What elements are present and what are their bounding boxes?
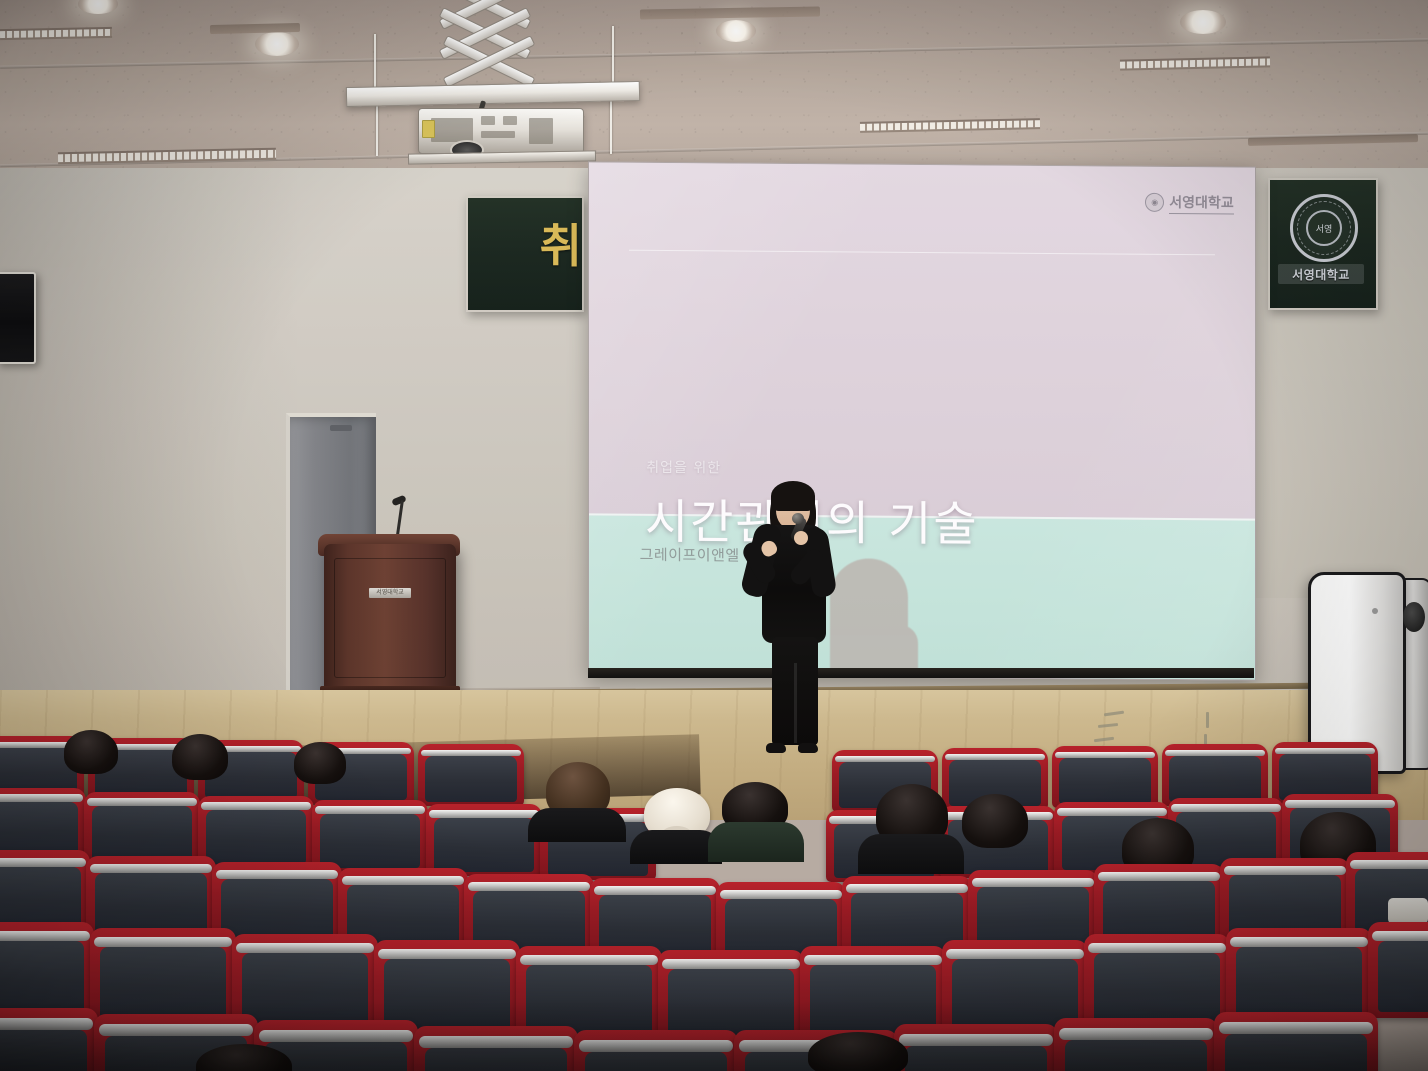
air-purifier-intake-icon (1403, 602, 1425, 632)
projector-label (422, 120, 435, 138)
audience-shoulders (708, 822, 804, 862)
podium: 서영대학교 (324, 544, 456, 694)
slide-footer-text: 그레이프이앤엘 이 (640, 544, 760, 566)
hanger-wire (376, 100, 378, 156)
door-closer-icon (330, 425, 352, 431)
projector-mount-plate (346, 81, 640, 107)
seat[interactable] (84, 792, 200, 864)
slide-logo-text: 서영대학교 (1169, 192, 1233, 215)
audience-head (962, 794, 1028, 848)
seat[interactable] (1214, 1012, 1378, 1071)
podium-nameplate: 서영대학교 (369, 588, 411, 598)
presenter-left-hand (794, 531, 808, 545)
seat[interactable] (1162, 744, 1268, 806)
projector-base-rail (408, 150, 596, 164)
seat[interactable] (1054, 1018, 1218, 1071)
seat[interactable] (1052, 746, 1158, 808)
seat[interactable] (418, 744, 524, 806)
wall-banner-right: 서영 서영대학교 (1268, 178, 1378, 310)
auditorium-scene: 취 서영 서영대학교 ◉ 서영대학교 취업을 위한 시간관리의 기술 그레이프이… (0, 0, 1428, 1071)
audience-head (808, 1032, 908, 1071)
air-purifier-indicator-icon (1372, 608, 1378, 614)
seat[interactable] (426, 804, 542, 876)
seat[interactable] (232, 934, 378, 1030)
university-seal-icon: 서영 (1290, 194, 1358, 262)
ceiling-downlight (1180, 10, 1226, 34)
audience-shoulders (528, 808, 626, 842)
ceiling-air-vent (0, 27, 112, 40)
audience-head (172, 734, 228, 780)
hanger-wire (612, 26, 614, 88)
audience-shoulders (858, 834, 964, 874)
audience-seating (0, 726, 1428, 1071)
audience-head (294, 742, 346, 784)
wall-speaker (0, 272, 36, 364)
ceiling-downlight (255, 32, 299, 56)
seat[interactable] (90, 928, 236, 1024)
slide-logo-mark-icon: ◉ (1145, 193, 1164, 212)
wall-banner-left: 취 (466, 196, 584, 312)
projection-screen: ◉ 서영대학교 취업을 위한 시간관리의 기술 그레이프이앤엘 이 (588, 161, 1256, 680)
ceiling-downlight (716, 20, 756, 42)
seat[interactable] (1368, 922, 1428, 1018)
ceiling-projector-rig (346, 0, 646, 172)
seat[interactable] (0, 1008, 98, 1071)
microphone-head-icon (792, 513, 804, 524)
seat[interactable] (198, 796, 314, 868)
seat[interactable] (1226, 928, 1372, 1024)
projector-body (418, 108, 584, 154)
hanger-wire (610, 96, 612, 154)
scissor-lift-icon (430, 0, 558, 86)
banner-left-character: 취 (540, 224, 580, 268)
podium-front-panel (334, 558, 446, 678)
audience-head (64, 730, 118, 774)
seat[interactable] (0, 922, 94, 1018)
presenter-hair-top (771, 481, 815, 511)
wall-shading (0, 168, 300, 728)
banner-wordmark: 서영대학교 (1278, 264, 1364, 284)
seat[interactable] (894, 1024, 1058, 1071)
seat[interactable] (1084, 934, 1230, 1030)
ceiling (0, 0, 1428, 178)
seat[interactable] (414, 1026, 578, 1071)
hanger-wire (374, 34, 376, 92)
seat[interactable] (574, 1030, 738, 1071)
presenter-cast-shadow (830, 558, 908, 677)
screen-bottom-bar (588, 668, 1254, 678)
slide-university-logo: ◉ 서영대학교 (1145, 191, 1233, 214)
audience-bag (1388, 898, 1428, 924)
slide-eyebrow-text: 취업을 위한 (646, 457, 721, 478)
